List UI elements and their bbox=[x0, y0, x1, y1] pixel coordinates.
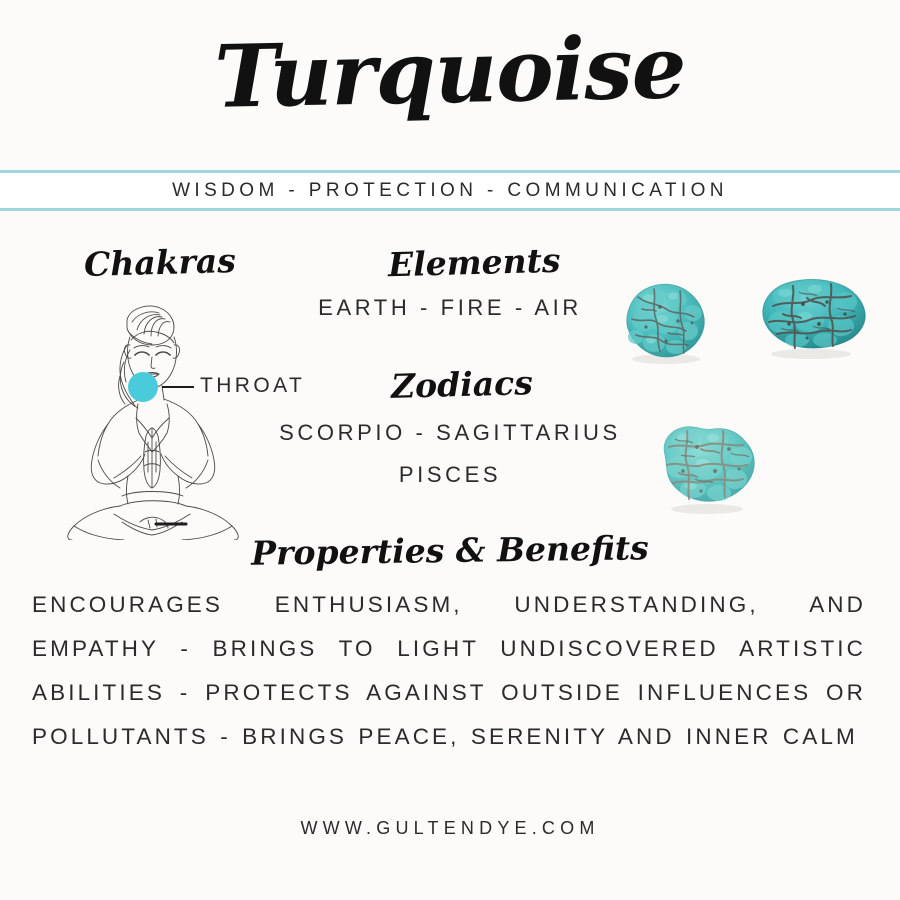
footer-website-url: WWW.GULTENDYE.COM bbox=[0, 818, 900, 839]
chakras-heading: Chakras bbox=[84, 241, 237, 284]
meditating-woman-illustration bbox=[52, 300, 252, 540]
throat-chakra-dot bbox=[128, 372, 158, 402]
turquoise-stone-top-right bbox=[747, 272, 872, 360]
properties-body-text: ENCOURAGES ENTHUSIASM, UNDERSTANDING, AN… bbox=[32, 583, 866, 759]
throat-leader-line bbox=[162, 386, 194, 388]
zodiacs-line-1: SCORPIO - SAGITTARIUS bbox=[270, 420, 630, 446]
turquoise-stone-top-left bbox=[608, 279, 718, 364]
page-title: Turquoise bbox=[0, 19, 900, 128]
zodiacs-line-2: PISCES bbox=[270, 462, 630, 488]
zodiacs-heading: Zodiacs bbox=[391, 363, 534, 406]
throat-chakra-label: THROAT bbox=[200, 374, 305, 398]
elements-list: EARTH - FIRE - AIR bbox=[300, 295, 600, 321]
keyword-band: WISDOM - PROTECTION - COMMUNICATION bbox=[0, 170, 900, 211]
elements-heading: Elements bbox=[388, 241, 561, 285]
turquoise-stone-bottom bbox=[645, 415, 770, 515]
keyword-band-text: WISDOM - PROTECTION - COMMUNICATION bbox=[0, 173, 900, 208]
